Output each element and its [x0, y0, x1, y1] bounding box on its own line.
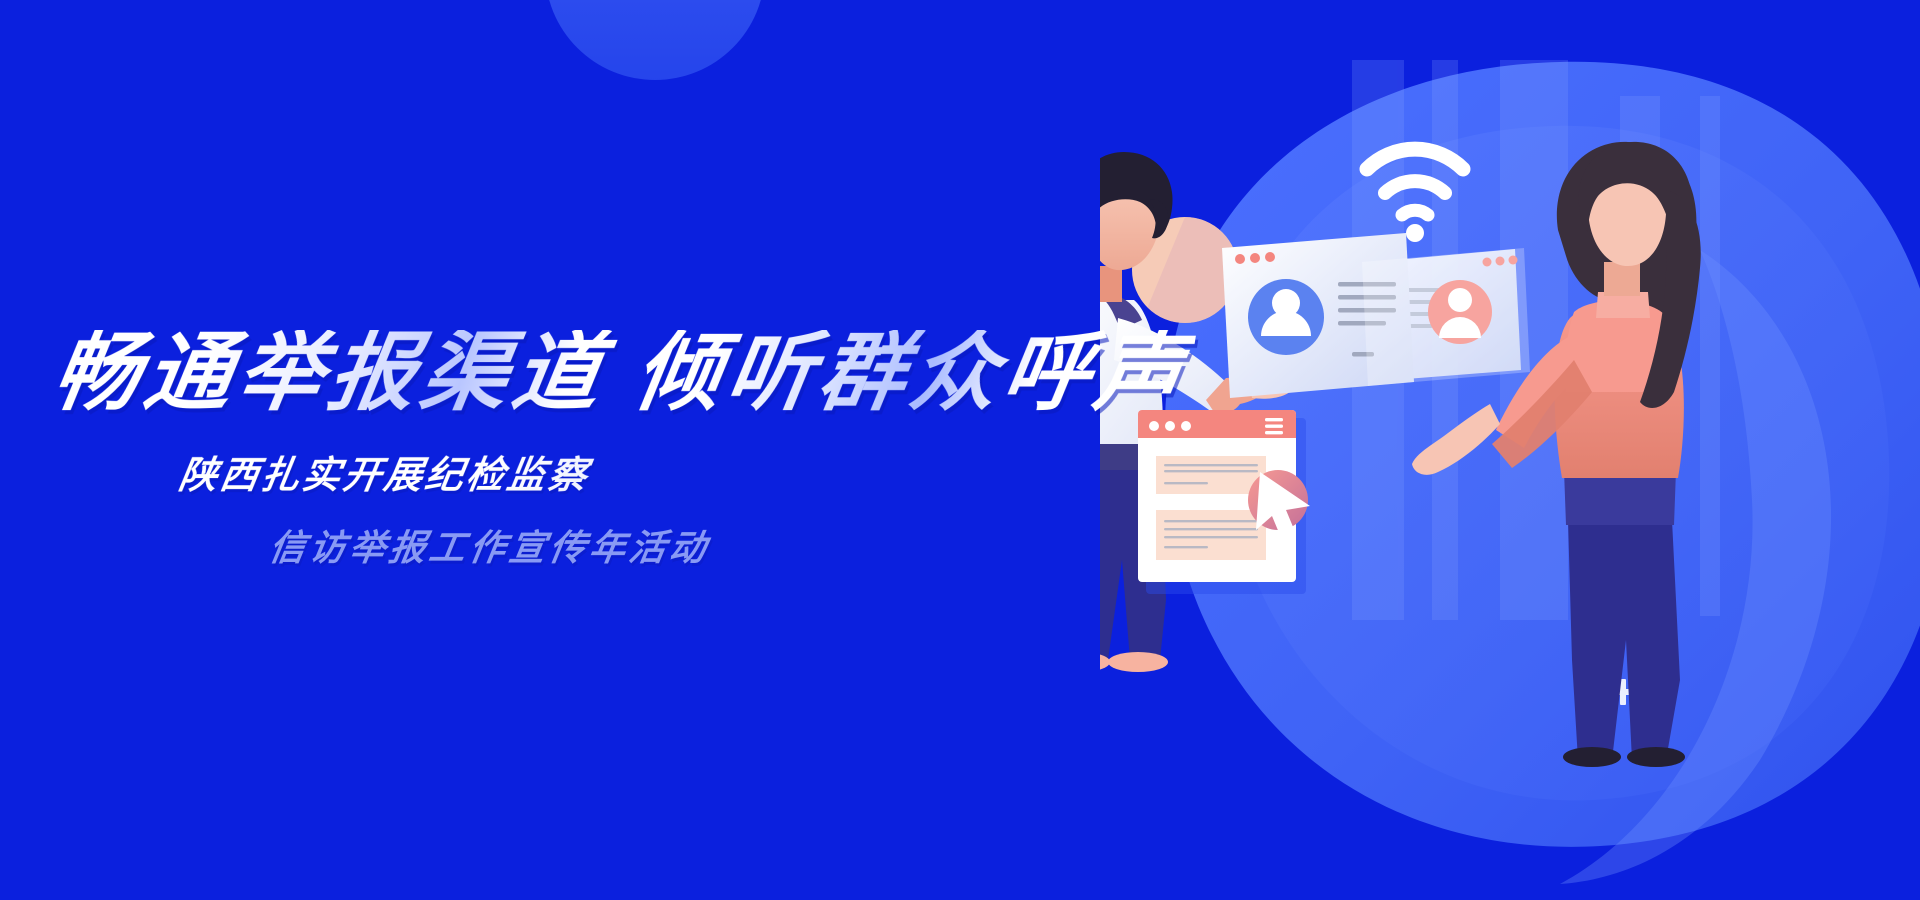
headline-group: 畅通举报渠道 倾听群众呼声 陕西扎实开展纪检监察 信访举报工作宣传年活动 [40, 330, 1190, 571]
subtitle-line-one: 陕西扎实开展纪检监察 [176, 444, 1195, 499]
banner-root: 畅通举报渠道 倾听群众呼声 陕西扎实开展纪检监察 信访举报工作宣传年活动 [0, 0, 1920, 900]
wifi-icon [1367, 149, 1463, 242]
browser-card-held [1362, 248, 1530, 386]
hamburger-menu-icon [1265, 418, 1283, 434]
woman-figure [1412, 142, 1701, 767]
subtitle-line-two: 信访举报工作宣传年活动 [266, 519, 1194, 571]
page-title: 畅通举报渠道 倾听群众呼声 [33, 330, 1197, 416]
avatar-icon-blue [1248, 279, 1324, 355]
hero-illustration [1100, 0, 1920, 900]
